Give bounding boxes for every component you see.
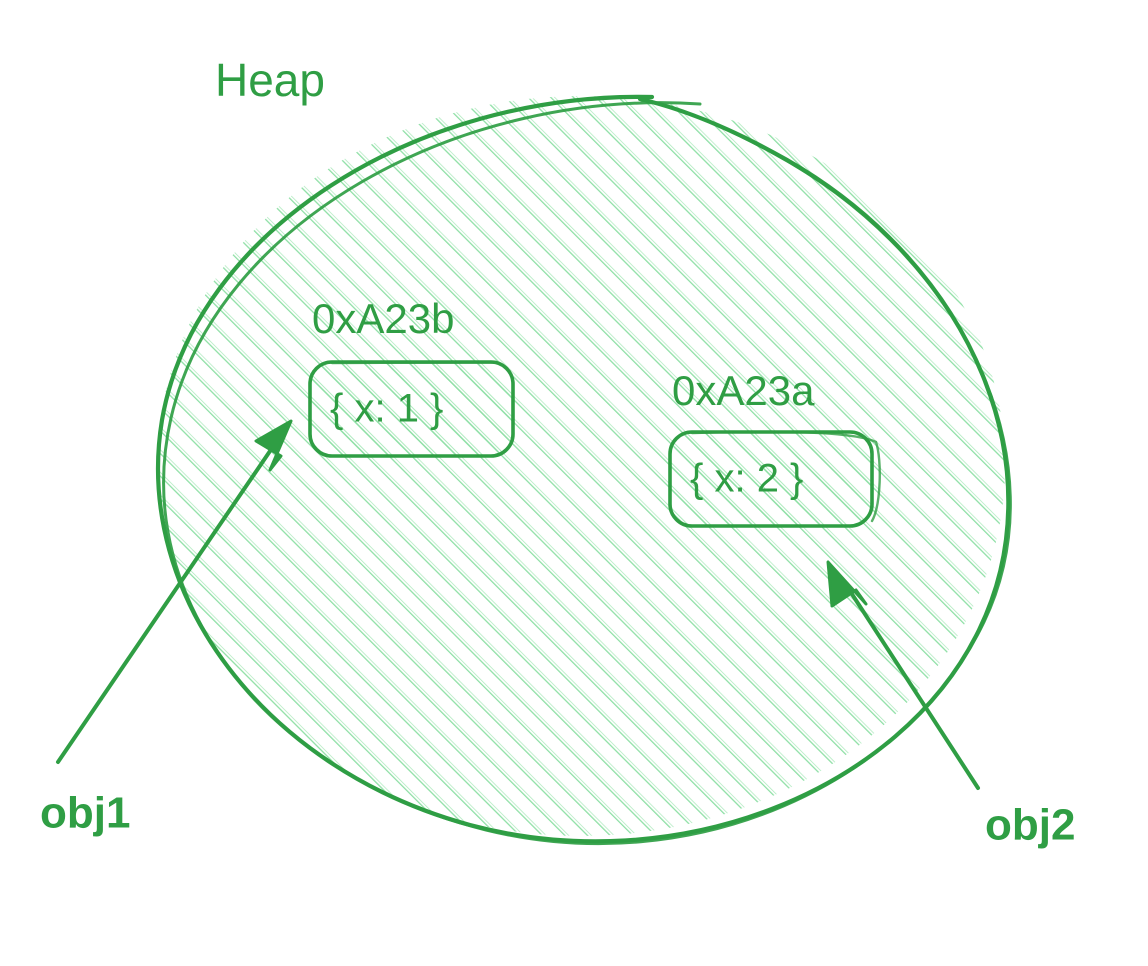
diagram-canvas: Heap 0xA23b { x: 1 } 0xA23a { x: 2 } (0, 0, 1148, 966)
object-address-label-0: 0xA23b (312, 295, 454, 342)
heap-label: Heap (215, 54, 325, 106)
reference-label-obj2: obj2 (985, 801, 1075, 850)
heap-memory-diagram: Heap 0xA23b { x: 1 } 0xA23a { x: 2 } (0, 0, 1148, 966)
object-value-label-0: { x: 1 } (330, 387, 443, 431)
heap-ellipse (140, 80, 1040, 870)
object-address-label-1: 0xA23a (672, 367, 815, 414)
object-value-label-1: { x: 2 } (690, 457, 803, 501)
reference-label-obj1: obj1 (40, 789, 130, 838)
heap-ellipse-hatch-fill (140, 80, 1040, 870)
